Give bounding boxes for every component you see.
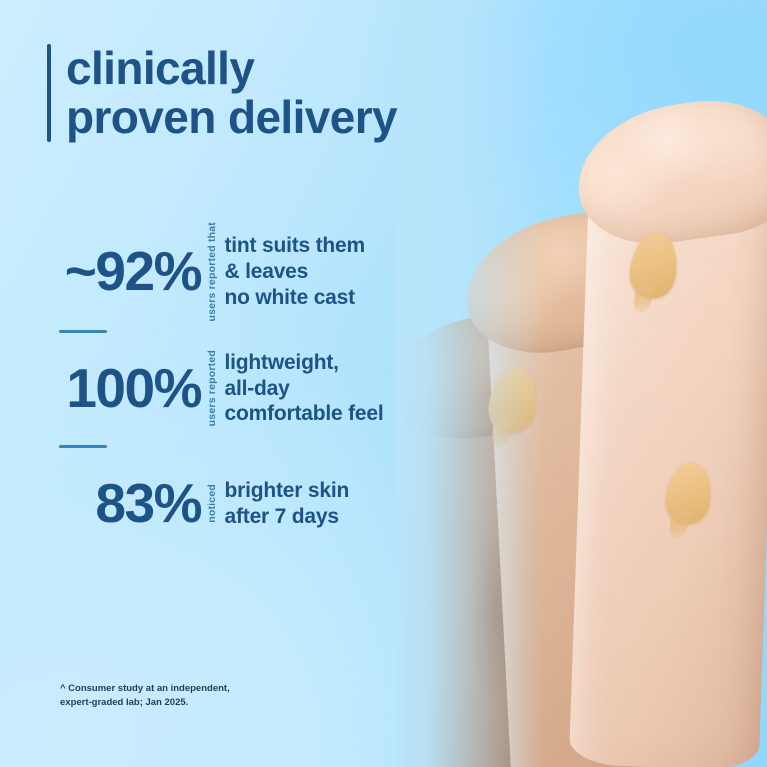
stat-vertical-label: users reported that	[207, 222, 218, 322]
stat-vertical-label: noticed	[207, 484, 218, 523]
stat-percent: 83%	[0, 476, 205, 531]
stat-description: brighter skin after 7 days	[225, 478, 350, 529]
stat-row: 83% noticed brighter skin after 7 days	[0, 456, 430, 552]
infographic-canvas: clinically proven delivery ~92% users re…	[0, 0, 767, 767]
stat-vertical-label: users reported	[207, 350, 218, 426]
headline-accent-bar	[47, 44, 51, 142]
stat-divider	[59, 330, 107, 333]
stats-list: ~92% users reported that tint suits them…	[0, 222, 430, 552]
stat-description: tint suits them & leaves no white cast	[225, 233, 366, 310]
headline-block: clinically proven delivery	[47, 44, 397, 142]
stat-divider	[59, 445, 107, 448]
footnote: ^ Consumer study at an independent, expe…	[60, 682, 230, 710]
stat-percent: 100%	[0, 361, 205, 416]
product-photo	[395, 0, 767, 767]
stat-row: 100% users reported lightweight, all-day…	[0, 341, 430, 437]
stat-percent: ~92%	[0, 244, 205, 299]
page-title: clinically proven delivery	[66, 44, 397, 142]
stat-row: ~92% users reported that tint suits them…	[0, 222, 430, 322]
stat-description: lightweight, all-day comfortable feel	[225, 350, 384, 427]
